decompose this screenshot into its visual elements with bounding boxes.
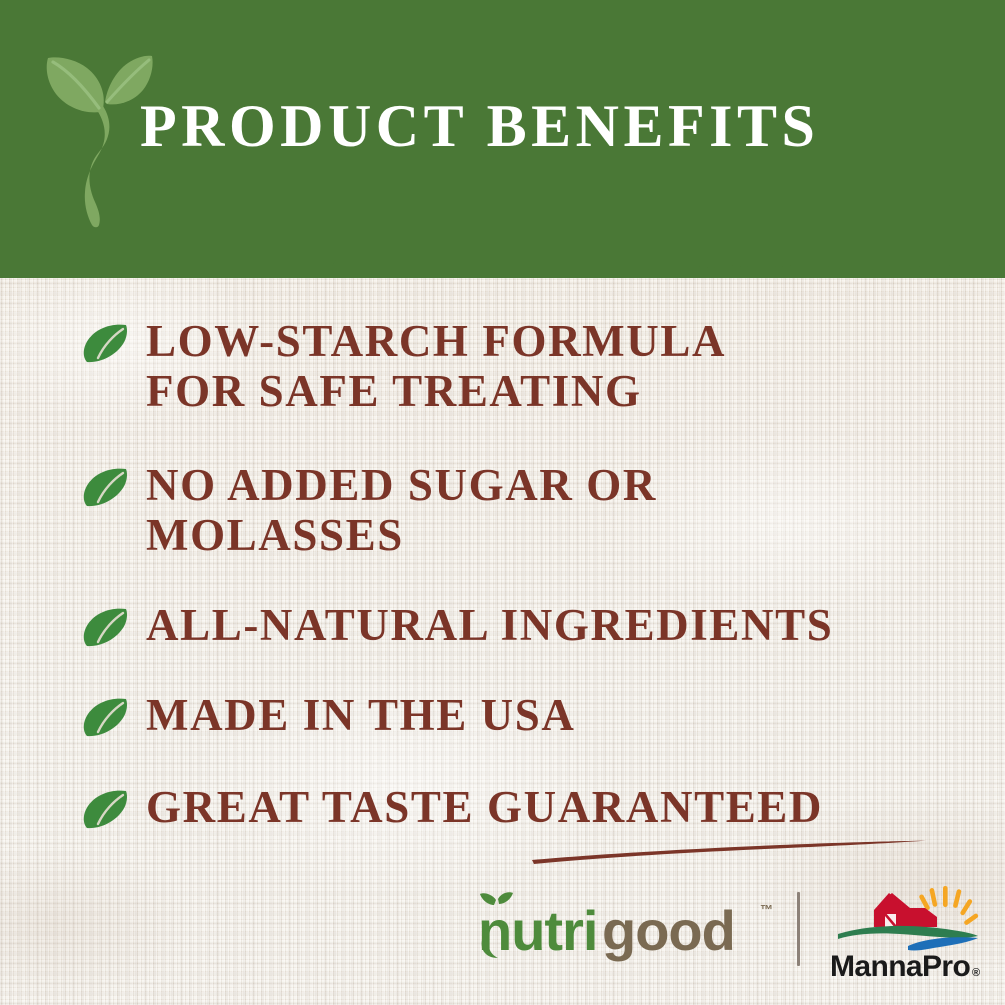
list-item-label: LOW-STARCH FORMULA FOR SAFE TREATING	[146, 316, 726, 416]
list-item-label: NO ADDED SUGAR OR MOLASSES	[146, 460, 657, 560]
list-item: ALL-NATURAL INGREDIENTS	[82, 600, 833, 650]
list-item-label: MADE IN THE USA	[146, 690, 575, 740]
water-swoosh-icon	[908, 937, 978, 950]
svg-text:nutri: nutri	[478, 899, 597, 962]
header-band: PRODUCT BENEFITS	[0, 0, 1005, 278]
svg-text:MannaPro: MannaPro	[830, 950, 970, 982]
svg-text:™: ™	[760, 902, 773, 917]
leaf-bullet-icon	[82, 696, 130, 738]
torn-edge-divider	[0, 252, 1005, 278]
leaf-bullet-icon	[82, 322, 130, 364]
leaf-bullet-icon	[82, 466, 130, 508]
mannapro-logo: MannaPro ®	[822, 884, 988, 982]
nutrigood-logo: nutri good ™	[472, 892, 777, 964]
field-swoosh-icon	[838, 926, 978, 939]
footer-logos: nutri good ™	[0, 880, 1005, 990]
hand-drawn-brush-underline-icon	[530, 836, 930, 870]
list-item-label: GREAT TASTE GUARANTEED	[146, 782, 823, 832]
page-title: PRODUCT BENEFITS	[140, 96, 819, 156]
svg-text:®: ®	[972, 967, 980, 979]
list-item: LOW-STARCH FORMULA FOR SAFE TREATING	[82, 316, 726, 416]
barn-icon	[874, 893, 937, 927]
emphasis-underline	[530, 836, 930, 870]
list-item: NO ADDED SUGAR OR MOLASSES	[82, 460, 657, 560]
product-benefits-infographic: PRODUCT BENEFITS LOW-STARCH FORMULA FOR …	[0, 0, 1005, 1005]
leaf-bullet-icon	[82, 788, 130, 830]
list-item-label: ALL-NATURAL INGREDIENTS	[146, 600, 833, 650]
list-item: MADE IN THE USA	[82, 690, 575, 740]
logo-divider	[797, 892, 800, 966]
leaf-bullet-icon	[82, 606, 130, 648]
svg-text:good: good	[602, 899, 735, 962]
list-item: GREAT TASTE GUARANTEED	[82, 782, 823, 832]
